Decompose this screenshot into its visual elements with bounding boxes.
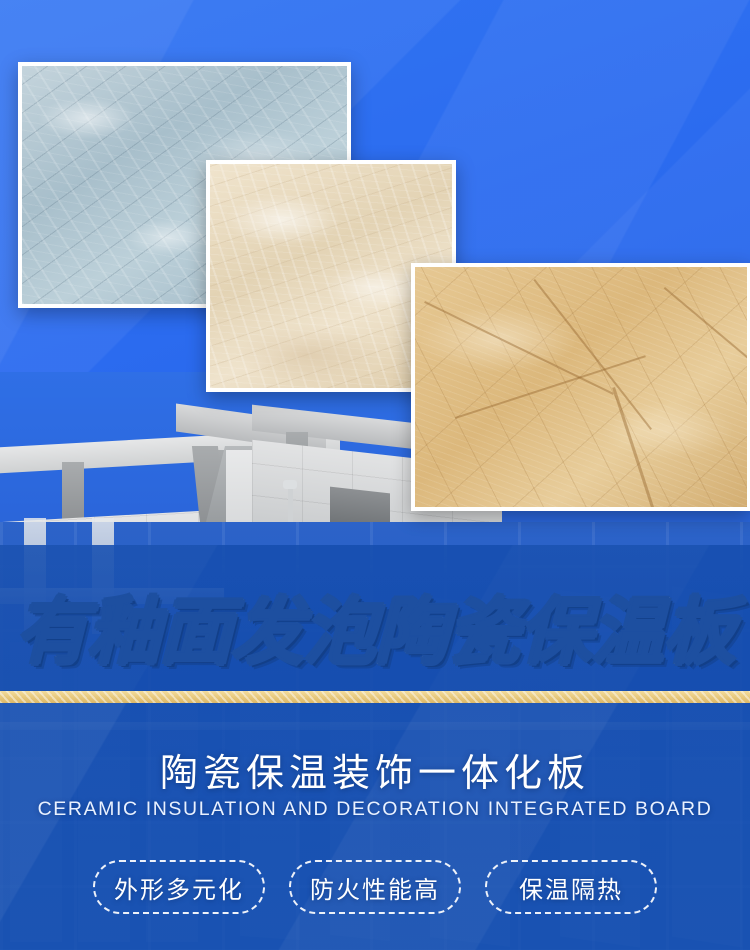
feature-badge-group: 外形多元化 防火性能高 保温隔热 <box>0 856 750 918</box>
roof-column-a <box>62 462 84 524</box>
tile-texture-tan <box>415 267 747 507</box>
tile-sample-tan-marble[interactable] <box>411 263 750 511</box>
subtitle-chinese: 陶瓷保温装饰一体化板 <box>0 742 750 797</box>
marble-vein-3 <box>612 387 667 511</box>
marble-vein-1 <box>424 301 614 395</box>
marble-vein-2 <box>533 279 652 430</box>
feature-badge-3[interactable]: 保温隔热 <box>485 860 657 914</box>
page-title: 有釉面发泡陶瓷保温板 <box>0 587 750 677</box>
feature-badge-1[interactable]: 外形多元化 <box>93 860 265 914</box>
gold-divider-bar <box>0 691 750 703</box>
product-banner-poster: 有釉面发泡陶瓷保温板 陶瓷保温装饰一体化板 CERAMIC INSULATION… <box>0 0 750 950</box>
marble-vein-5 <box>664 287 750 359</box>
feature-badge-2[interactable]: 防火性能高 <box>289 860 461 914</box>
page-title-text: 有釉面发泡陶瓷保温板 <box>15 596 735 669</box>
subtitle-english: CERAMIC INSULATION AND DECORATION INTEGR… <box>0 798 750 821</box>
light-fixture <box>283 480 297 489</box>
